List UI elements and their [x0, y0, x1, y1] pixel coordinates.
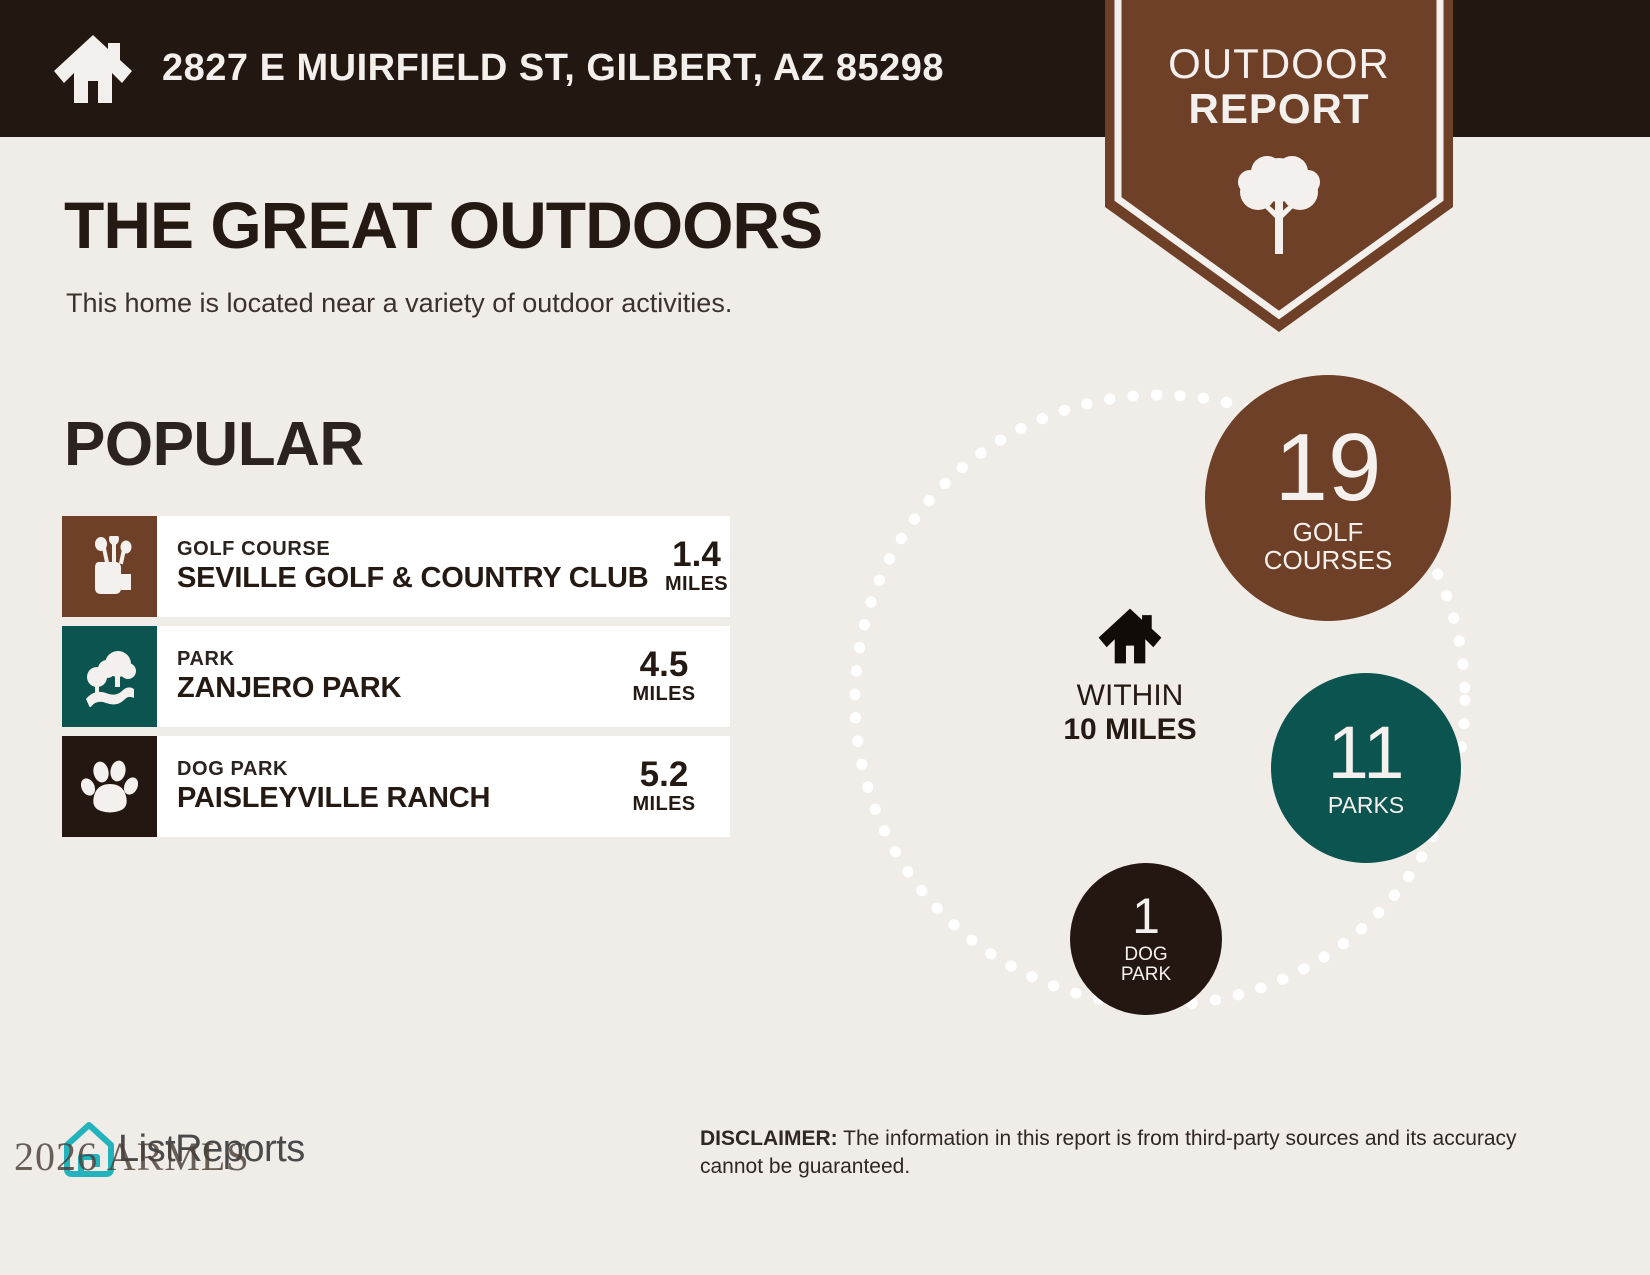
home-icon: [52, 31, 134, 107]
stat-bubble-golf-courses: 19 GOLF COURSES: [1205, 375, 1451, 621]
stat-label: PARKS: [1328, 793, 1404, 817]
popular-poi-list: GOLF COURSE SEVILLE GOLF & COUNTRY CLUB …: [62, 516, 730, 846]
list-item-distance: 4.5 MILES: [616, 626, 730, 727]
list-item-distance: 5.2 MILES: [616, 736, 730, 837]
list-item[interactable]: DOG PARK PAISLEYVILLE RANCH 5.2 MILES: [62, 736, 730, 837]
stat-label-line-2: PARK: [1121, 965, 1171, 985]
list-item-text: DOG PARK PAISLEYVILLE RANCH: [157, 736, 616, 837]
stat-bubble-parks: 11 PARKS: [1271, 673, 1461, 863]
list-item-text: PARK ZANJERO PARK: [157, 626, 616, 727]
list-item[interactable]: PARK ZANJERO PARK 4.5 MILES: [62, 626, 730, 727]
within-label: WITHIN: [1077, 679, 1184, 713]
park-tree-icon: [80, 647, 140, 707]
distance-unit: MILES: [665, 573, 728, 596]
distance-value: 4.5: [640, 647, 689, 684]
golf-bag-icon-tile: [62, 516, 157, 617]
list-item-category: PARK: [177, 647, 401, 672]
stat-label: GOLF COURSES: [1264, 519, 1393, 574]
stat-count: 11: [1328, 718, 1405, 788]
distance-value: 5.2: [640, 757, 689, 794]
stat-label-line-1: GOLF: [1264, 519, 1393, 547]
page-title: THE GREAT OUTDOORS: [64, 192, 822, 258]
distance-value: 1.4: [672, 537, 721, 574]
list-item[interactable]: GOLF COURSE SEVILLE GOLF & COUNTRY CLUB …: [62, 516, 730, 617]
home-icon: [1097, 605, 1163, 667]
list-item-category: DOG PARK: [177, 757, 490, 782]
stat-label-line-1: PARKS: [1328, 793, 1404, 817]
paw-print-icon: [81, 758, 139, 816]
list-item-category: GOLF COURSE: [177, 537, 649, 562]
property-address: 2827 E MUIRFIELD ST, GILBERT, AZ 85298: [162, 47, 944, 90]
distance-unit: MILES: [632, 793, 695, 816]
outdoor-report-badge: OUTDOOR REPORT: [1105, 0, 1453, 332]
golf-bag-icon: [81, 536, 139, 598]
stat-count: 19: [1275, 422, 1382, 513]
list-item-distance: 1.4 MILES: [649, 516, 763, 617]
stat-label-line-1: DOG: [1121, 945, 1171, 965]
list-item-name: PAISLEYVILLE RANCH: [177, 782, 490, 815]
center-home-marker: WITHIN 10 MILES: [1050, 605, 1210, 746]
page-subtitle: This home is located near a variety of o…: [66, 288, 732, 319]
disclaimer: DISCLAIMER: The information in this repo…: [700, 1125, 1530, 1182]
list-item-text: GOLF COURSE SEVILLE GOLF & COUNTRY CLUB: [157, 516, 649, 617]
park-tree-icon-tile: [62, 626, 157, 727]
stat-bubble-dog-park: 1 DOG PARK: [1070, 863, 1222, 1015]
list-item-name: ZANJERO PARK: [177, 672, 401, 705]
distance-unit: MILES: [632, 683, 695, 706]
mls-watermark: 2026 ARMLS: [14, 1133, 250, 1180]
stat-count: 1: [1132, 893, 1160, 941]
section-title-popular: POPULAR: [64, 414, 364, 476]
radius-diagram: WITHIN 10 MILES 19 GOLF COURSES 11 PARKS…: [815, 355, 1515, 1055]
radius-label: 10 MILES: [1063, 713, 1196, 747]
list-item-name: SEVILLE GOLF & COUNTRY CLUB: [177, 562, 649, 595]
stat-label-line-2: COURSES: [1264, 547, 1393, 575]
stat-label: DOG PARK: [1121, 945, 1171, 985]
paw-print-icon-tile: [62, 736, 157, 837]
disclaimer-label: DISCLAIMER:: [700, 1127, 838, 1150]
